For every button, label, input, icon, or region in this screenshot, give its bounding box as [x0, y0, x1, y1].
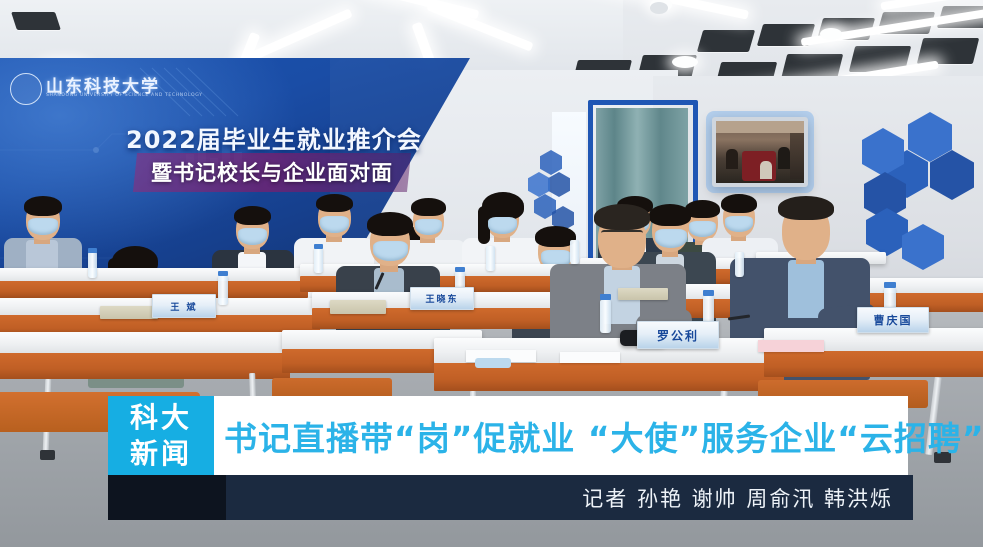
desk-nameplate-text: 王晓东 [425, 292, 458, 305]
attendee-face-mask [320, 216, 349, 233]
bottle-cap [455, 267, 465, 272]
water-bottle [88, 252, 97, 278]
face-mask-on-desk [475, 358, 511, 368]
attendee-hair [411, 198, 446, 216]
monitor-remote-ceiling [716, 121, 804, 133]
monitor-remote-person [726, 149, 738, 169]
attendee-face-mask [28, 218, 58, 235]
attendee-shirt [788, 260, 824, 318]
credit-bar: 记者 孙艳 谢帅 周俞汛 韩洪烁 [226, 475, 913, 520]
desk-nameplate: 曹庆国 [857, 307, 929, 333]
monitor-remote-person [778, 147, 790, 169]
desk-leg-foot [40, 450, 55, 460]
ceiling-downlight [820, 28, 842, 40]
university-name-english: SHANDONG UNIVERSITY OF SCIENCE AND TECHN… [46, 93, 203, 98]
monitor-remote-person [760, 161, 772, 179]
attendee-face-mask [488, 217, 517, 234]
attendee-hair [594, 204, 650, 230]
program-badge-line1: 科大 [130, 400, 192, 436]
bottle-cap [218, 271, 228, 276]
bottle-cap [88, 248, 97, 253]
monitor-remote-sidebar [790, 131, 804, 179]
attendee-eyeglasses [601, 230, 643, 241]
conference-desk [0, 268, 308, 282]
conference-desk-front-panel [0, 353, 290, 379]
document-paper [758, 340, 824, 352]
headline-text: 书记直播带“岗”促就业 “大使”服务企业“云招聘” [224, 412, 983, 460]
desk-nameplate-text: 罗公利 [657, 327, 699, 344]
attendee-hair [316, 194, 353, 212]
monitor-screen [716, 121, 804, 183]
conference-desk-front-panel [764, 351, 983, 377]
attendee-hair [234, 206, 271, 225]
bottle-cap [600, 294, 611, 300]
bottle-cap [703, 290, 714, 296]
credit-bar-left [108, 475, 226, 520]
program-badge-line2: 新闻 [130, 436, 192, 472]
banner-headline-secondary: 暨书记校长与企业面对面 [151, 157, 393, 187]
attendee-face-mask [689, 221, 716, 237]
video-frame: 山东科技大学 SHANDONG UNIVERSITY OF SCIENCE AN… [0, 0, 983, 547]
notebook [618, 288, 668, 300]
credit-text: 记者 孙艳 谢帅 周俞汛 韩洪烁 [582, 483, 893, 513]
notebook [100, 306, 158, 319]
water-bottle [735, 252, 744, 277]
ceiling-coffer [11, 12, 61, 30]
attendee-hair [778, 196, 834, 220]
attendee-hair [649, 204, 691, 226]
desk-nameplate: 罗公利 [637, 321, 719, 349]
water-bottle [314, 248, 323, 273]
university-emblem-icon [10, 73, 42, 105]
water-bottle [486, 246, 495, 271]
university-logo: 山东科技大学 SHANDONG UNIVERSITY OF SCIENCE AN… [4, 68, 168, 108]
ceiling-coffer [697, 30, 755, 52]
bottle-cap [884, 282, 896, 288]
bottle-cap [314, 244, 323, 249]
program-badge: 科大 新闻 [108, 396, 214, 475]
water-bottle [570, 240, 579, 264]
desk-nameplate: 王 斌 [152, 294, 216, 318]
attendee-face-mask [655, 229, 687, 248]
headline-container: 书记直播带“岗”促就业 “大使”服务企业“云招聘” [224, 396, 983, 475]
attendee-face-mask [415, 219, 442, 235]
water-bottle [600, 300, 611, 333]
conference-desk-front-row [0, 332, 290, 354]
video-conference-monitor[interactable] [712, 117, 808, 187]
attendee-face-mask [725, 216, 753, 232]
ceiling-downlight [672, 56, 698, 68]
attendee-hair [24, 196, 62, 216]
banner-headline-secondary-band: 暨书记校长与企业面对面 [133, 153, 411, 192]
lower-third-graphic: 科大 新闻 书记直播带“岗”促就业 “大使”服务企业“云招聘” 记者 孙艳 谢帅… [108, 396, 908, 520]
document-paper [560, 352, 620, 363]
desk-nameplate-text: 王 斌 [170, 300, 197, 313]
banner-headline-primary: 2022届毕业生就业推介会 [126, 120, 422, 155]
attendee-face-mask [373, 241, 408, 261]
attendee-face-mask [238, 228, 267, 245]
notebook [330, 300, 386, 314]
attendee-hair [367, 212, 413, 236]
desk-nameplate-text: 曹庆国 [874, 312, 913, 328]
desk-nameplate: 王晓东 [410, 287, 474, 310]
ceiling-coffer [917, 38, 979, 64]
water-bottle [218, 276, 228, 305]
ceiling-smoke-detector [650, 2, 668, 14]
attendee-hair [721, 194, 757, 213]
